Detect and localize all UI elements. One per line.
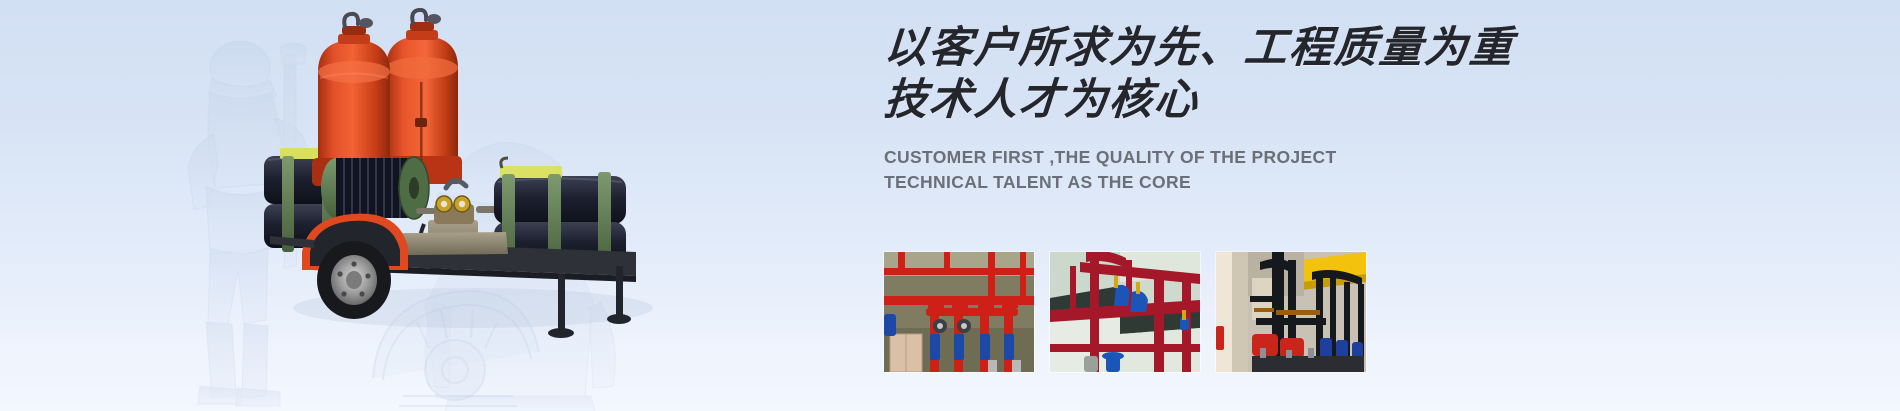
- banner-subtitle: CUSTOMER FIRST ,THE QUALITY OF THE PROJE…: [884, 128, 1584, 195]
- banner-content: 以客户所求为先、工程质量为重 技术人才为核心 CUSTOMER FIRST ,T…: [884, 0, 1584, 411]
- mobile-fire-pump-trailer-image: [258, 8, 678, 338]
- headline-line-1: 以客户所求为先、工程质量为重: [882, 22, 1586, 76]
- thumb-red-standpipe-stairwell[interactable]: [1050, 252, 1200, 372]
- subtitle-line-1: CUSTOMER FIRST ,THE QUALITY OF THE PROJE…: [884, 145, 1584, 170]
- thumb-pump-room-equipment[interactable]: [1216, 252, 1366, 372]
- banner-headline: 以客户所求为先、工程质量为重 技术人才为核心: [884, 0, 1584, 128]
- thumb-red-sprinkler-riser-room[interactable]: [884, 252, 1034, 372]
- hero-banner: 以客户所求为先、工程质量为重 技术人才为核心 CUSTOMER FIRST ,T…: [0, 0, 1900, 411]
- headline-line-2: 技术人才为核心: [882, 74, 1586, 128]
- subtitle-line-2: TECHNICAL TALENT AS THE CORE: [884, 170, 1584, 195]
- thumbnail-strip: [884, 252, 1366, 372]
